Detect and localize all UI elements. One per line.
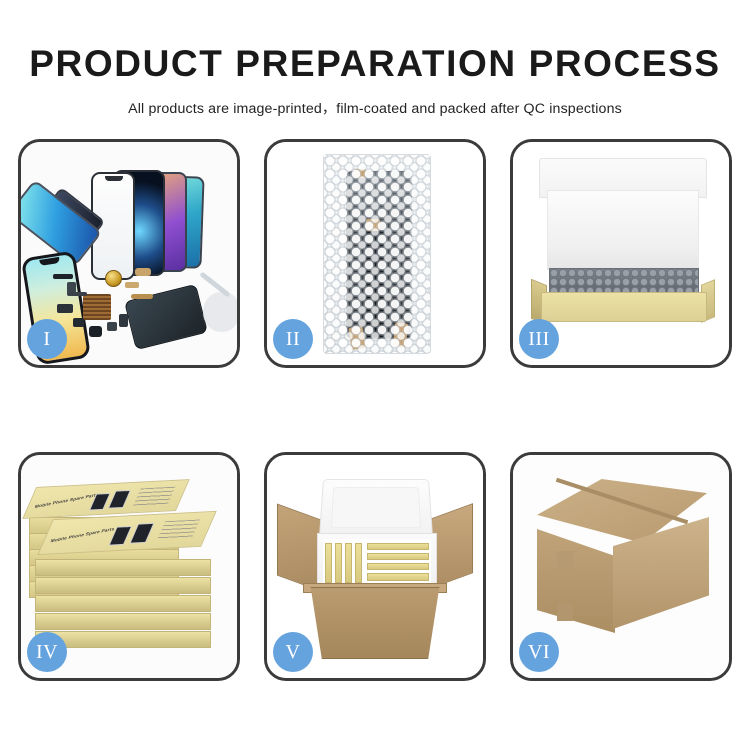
antenna-cable-part (67, 292, 87, 296)
box-spec-lines-front (157, 520, 200, 540)
speaker-coil-part (105, 270, 122, 287)
packed-boxes-group (323, 539, 431, 587)
step-card-1[interactable]: I (18, 139, 240, 368)
page-subtitle: All products are image-printed，film-coat… (0, 98, 750, 118)
packed-box-1 (325, 543, 332, 583)
box-screen-thumb-front-2 (129, 523, 154, 544)
carton-tape-patch-upper (557, 551, 573, 569)
stack-box-front-4 (35, 613, 211, 630)
stack-box-front-2 (35, 577, 211, 594)
step-card-4[interactable]: Mobile Phone Spare Parts Mobile Phone Sp… (18, 452, 240, 681)
packed-box-2 (335, 543, 342, 583)
step-badge-2: II (273, 319, 313, 359)
step-badge-5: V (273, 632, 313, 672)
small-chip-part (73, 318, 84, 327)
speaker-part (89, 326, 102, 337)
packed-box-3 (345, 543, 352, 583)
bubble-texture (324, 155, 430, 353)
step-card-3[interactable]: III (510, 139, 732, 368)
step-card-5[interactable]: V (264, 452, 486, 681)
step-card-6[interactable]: VI (510, 452, 732, 681)
header: PRODUCT PREPARATION PROCESS All products… (0, 0, 750, 118)
sim-tray-part (119, 314, 128, 327)
box-label-front: Mobile Phone Spare Parts (50, 526, 115, 543)
carton-left-face (537, 529, 615, 633)
process-grid: I II (18, 139, 732, 681)
step-badge-6: VI (519, 632, 559, 672)
step-badge-1: I (27, 319, 67, 359)
box-front-panel (541, 292, 707, 322)
packed-box-8 (367, 573, 429, 581)
foam-sheet (547, 190, 699, 270)
step-badge-4: IV (27, 632, 67, 672)
packed-box-5 (367, 543, 429, 550)
button-part (107, 322, 117, 331)
packed-box-7 (367, 563, 429, 570)
stack-box-front-1 (35, 559, 211, 576)
step-badge-3: III (519, 319, 559, 359)
adhesive-part-2 (125, 282, 139, 288)
bubble-bag (323, 154, 431, 354)
box-screen-thumb-rear-2 (108, 490, 131, 509)
camera-module-part (57, 304, 73, 313)
adhesive-part-1 (135, 268, 151, 276)
stack-box-front-3 (35, 595, 211, 612)
flex-strip-part (53, 274, 73, 279)
box-spec-lines-rear (133, 487, 176, 507)
packed-box-4 (355, 543, 362, 583)
page-title: PRODUCT PREPARATION PROCESS (0, 45, 750, 82)
foam-lid (319, 479, 433, 539)
packed-box-6 (367, 553, 429, 560)
page-root: PRODUCT PREPARATION PROCESS All products… (0, 0, 750, 750)
carton-body (305, 587, 445, 659)
technician-hand (203, 292, 237, 332)
carton-tape-patch-lower (557, 603, 573, 621)
ribbon-cable-part (131, 294, 153, 299)
connector-grid-part (83, 294, 111, 320)
step-card-2[interactable]: II (264, 139, 486, 368)
